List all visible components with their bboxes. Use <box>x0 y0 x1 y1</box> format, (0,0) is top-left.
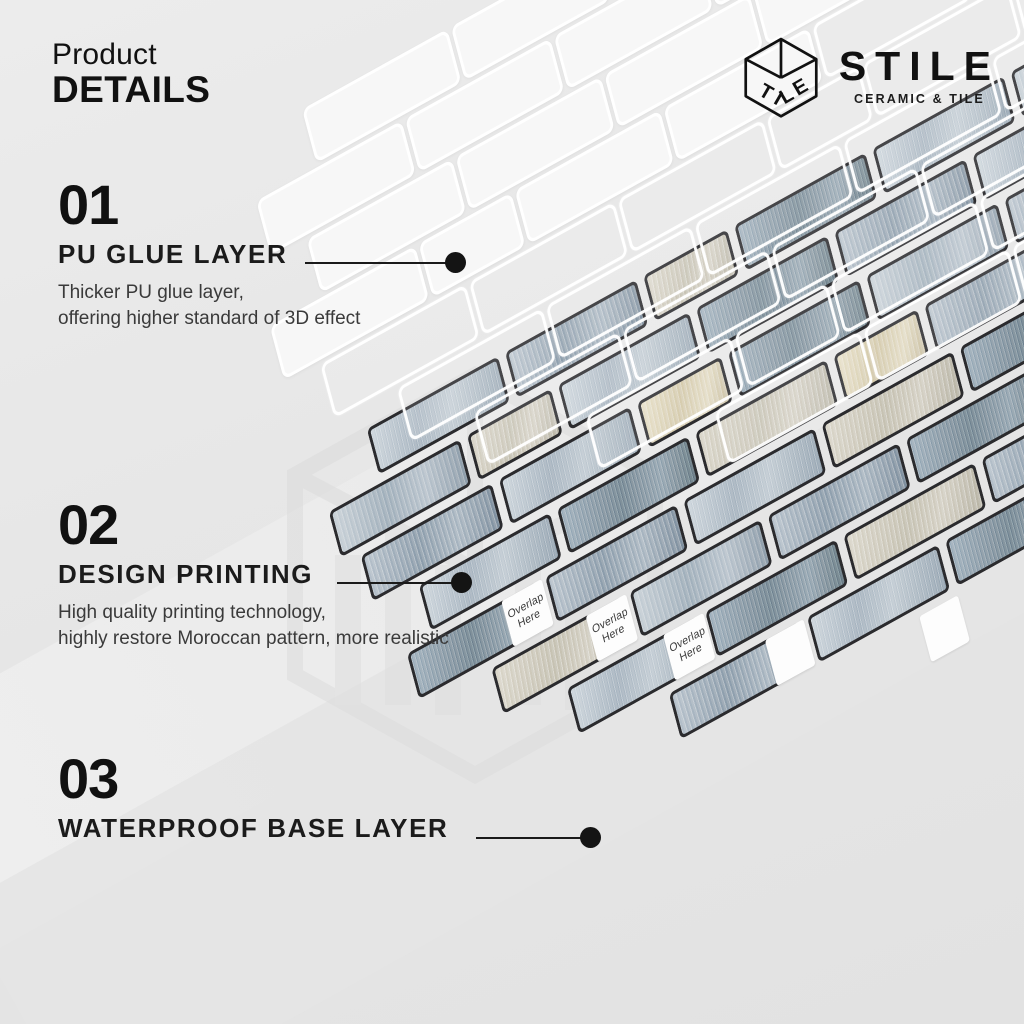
brand-wordmark: STILE CERAMIC & TILE <box>839 46 1000 106</box>
overlap-strip <box>919 595 970 662</box>
feature-desc-line2: offering higher standard of 3D effect <box>58 306 360 332</box>
page-title-line2: DETAILS <box>52 71 210 110</box>
feature-block-03: 03 WATERPROOF BASE LAYER <box>58 752 448 844</box>
feature-number: 03 <box>58 752 448 805</box>
feature-desc-line1: High quality printing technology, <box>58 600 449 626</box>
brand-logo: T I L E STILE CERAMIC & TILE <box>739 34 1000 118</box>
infographic-canvas: Overlap Here Overlap Here Overlap <box>0 0 1024 1024</box>
feature-desc-line2: highly restore Moroccan pattern, more re… <box>58 626 449 652</box>
page-title: Product DETAILS <box>52 40 210 109</box>
brand-tagline: CERAMIC & TILE <box>839 92 1000 106</box>
feature-number: 02 <box>58 498 449 551</box>
page-title-line1: Product <box>52 40 210 71</box>
feature-desc-line1: Thicker PU glue layer, <box>58 280 360 306</box>
leader-line-02 <box>337 572 477 594</box>
leader-line-01 <box>305 252 471 274</box>
leader-line-03 <box>476 827 606 849</box>
feature-number: 01 <box>58 178 360 231</box>
brand-name: STILE <box>839 46 1000 87</box>
feature-title: WATERPROOF BASE LAYER <box>58 813 448 844</box>
cube-logo-icon: T I L E <box>739 34 823 118</box>
